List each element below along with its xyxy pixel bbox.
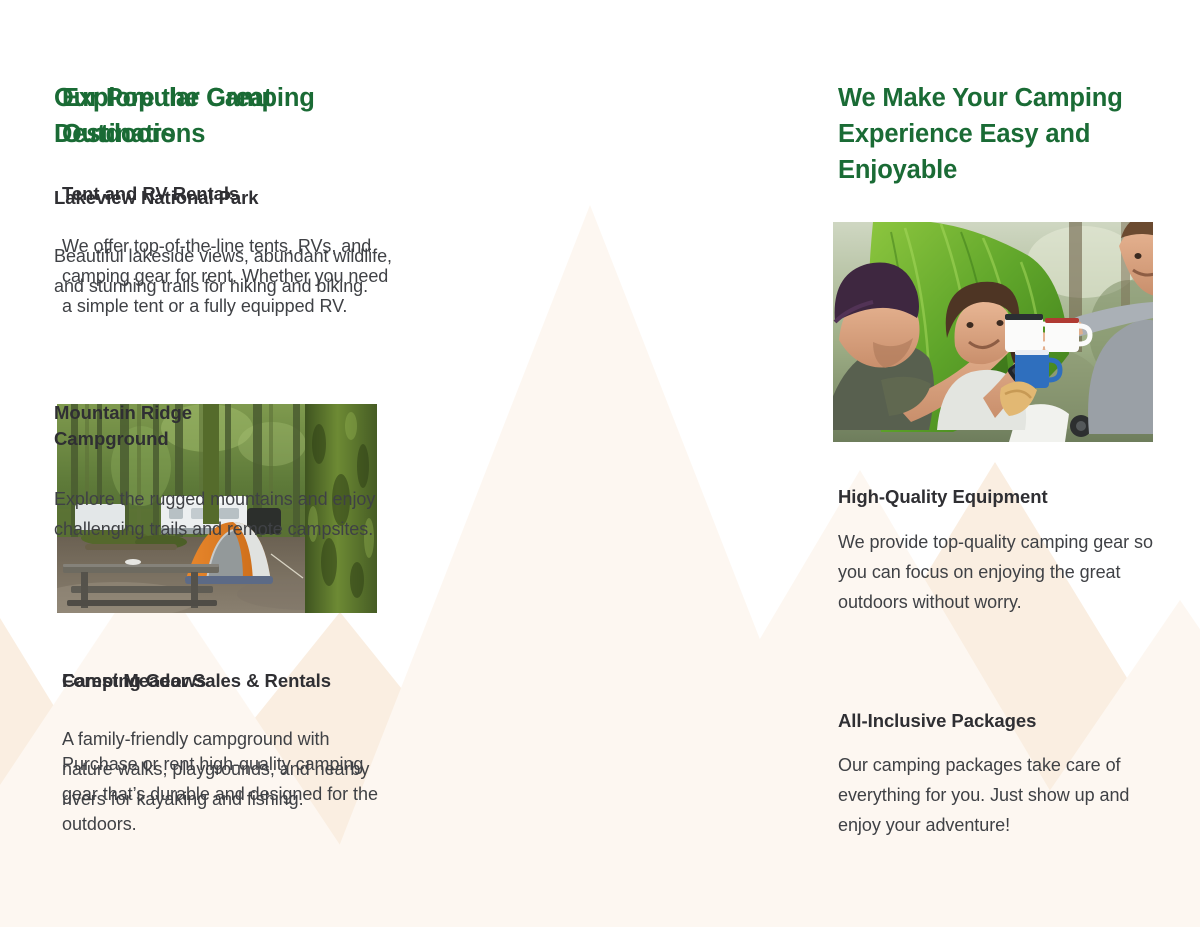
heading-lakeview-national-park: Lakeview National Park	[54, 185, 259, 211]
friends-toasting-mugs-photo	[833, 222, 1153, 442]
body-high-quality-equipment: We provide top-quality camping gear so y…	[838, 527, 1164, 618]
brochure-page: Explore the Great Outdoors Tent and RV R…	[0, 0, 1200, 927]
body-lakeview-national-park: Beautiful lakeside views, abundant wildl…	[54, 241, 394, 301]
column-3-title: We Make Your Camping Experience Easy and…	[838, 80, 1138, 189]
heading-mountain-ridge-campground: Mountain Ridge Campground	[54, 400, 284, 453]
column-2-title: Our Popular Camping Destinations	[54, 80, 374, 152]
heading-all-inclusive-packages: All-Inclusive Packages	[838, 708, 1036, 734]
body-mountain-ridge-campground: Explore the rugged mountains and enjoy c…	[54, 484, 394, 544]
heading-high-quality-equipment: High-Quality Equipment	[838, 484, 1048, 510]
heading-forest-meadows: Forest Meadows	[62, 668, 206, 694]
body-all-inclusive-packages: Our camping packages take care of everyt…	[838, 750, 1164, 841]
body-forest-meadows: A family-friendly campground with nature…	[62, 724, 372, 815]
